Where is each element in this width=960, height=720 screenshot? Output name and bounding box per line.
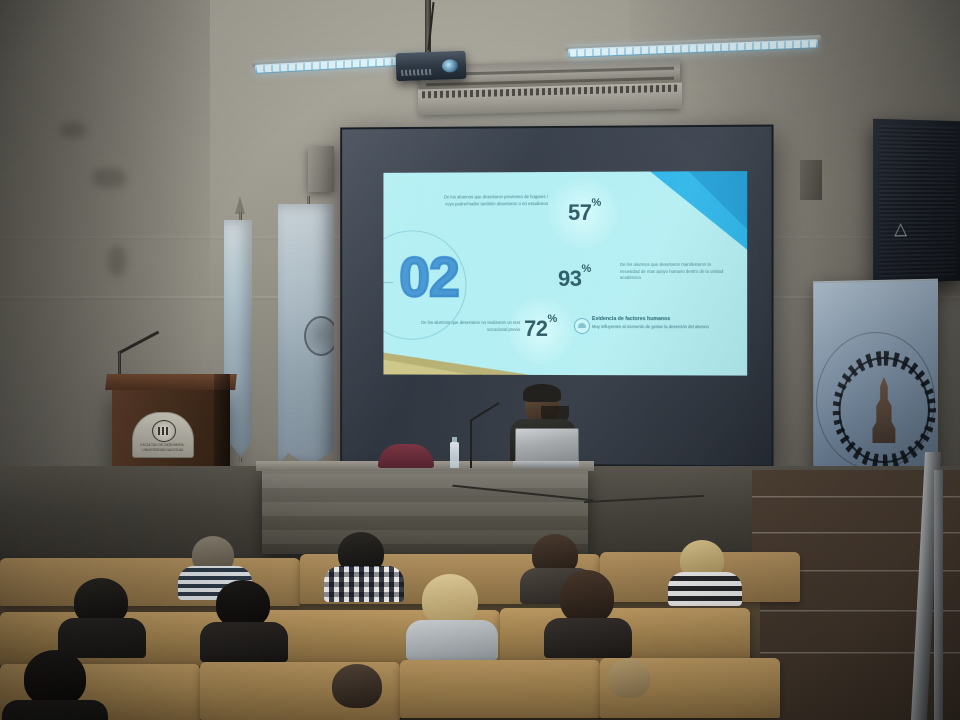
slide-section-number: 02 — [399, 244, 459, 309]
audience-person — [330, 532, 394, 596]
slide-callout: Evidencia de factores humanos Muy influy… — [592, 316, 719, 330]
stat-caption-57: De los alumnos que desertaron provienen … — [441, 194, 548, 207]
flag-emblem-icon — [304, 316, 338, 356]
presentation-slide: 02 De los alumnos que desertaron provien… — [383, 171, 747, 376]
wall-speaker: △ — [873, 119, 960, 284]
slide-footer-triangle-light — [383, 360, 470, 375]
callout-body: Muy influyentes al momento de gestar la … — [592, 324, 719, 331]
slide-footer-triangle — [383, 353, 530, 375]
podium-plaque: FACULTAD DE INGENIERÍA · UNIVERSIDAD NAC… — [132, 412, 194, 458]
slide-accent-triangle-dark — [689, 171, 748, 230]
audience-person — [598, 658, 658, 714]
audience-person — [412, 574, 490, 650]
flag-left — [228, 212, 252, 462]
lightbulb-icon — [574, 318, 590, 334]
audience — [0, 540, 960, 720]
slide-blob-57 — [548, 178, 618, 248]
bench-row-front — [400, 660, 600, 718]
speaker-logo-icon: △ — [891, 220, 910, 238]
slide-blob-72 — [508, 298, 574, 364]
slide-tick-line — [383, 282, 393, 283]
wall-speaker-small — [308, 146, 334, 192]
stat-caption-72: De los alumnos que desertaron no realiza… — [409, 320, 520, 333]
podium-plaque-text: FACULTAD DE INGENIERÍA · UNIVERSIDAD NAC… — [136, 443, 190, 453]
slide-decorative-ring — [383, 230, 466, 340]
projector-icon — [396, 51, 467, 81]
water-bottle — [450, 442, 459, 468]
auditorium-photo: △ 02 De los alumnos que desertaron provi… — [0, 0, 960, 720]
audience-person — [320, 664, 392, 720]
table-mic-stand — [470, 420, 472, 468]
audience-person — [10, 650, 100, 720]
slide-accent-triangle — [650, 171, 747, 250]
callout-title: Evidencia de factores humanos — [592, 316, 719, 323]
audience-person — [206, 580, 280, 650]
university-crest-icon — [152, 420, 176, 442]
audience-person — [672, 540, 734, 598]
stat-caption-93: De los alumnos que desertaron manifestar… — [620, 262, 729, 282]
laptop — [513, 428, 579, 468]
audience-person — [64, 578, 138, 648]
stat-value-72: 72% — [524, 318, 557, 340]
projector-lens-icon — [442, 59, 458, 73]
stat-value-57: 57% — [568, 202, 601, 224]
audience-person — [550, 570, 624, 648]
wall-speaker-small-right — [800, 160, 822, 200]
flag-right — [296, 196, 320, 466]
stat-value-93: 93% — [558, 268, 591, 290]
red-bag — [378, 444, 434, 468]
